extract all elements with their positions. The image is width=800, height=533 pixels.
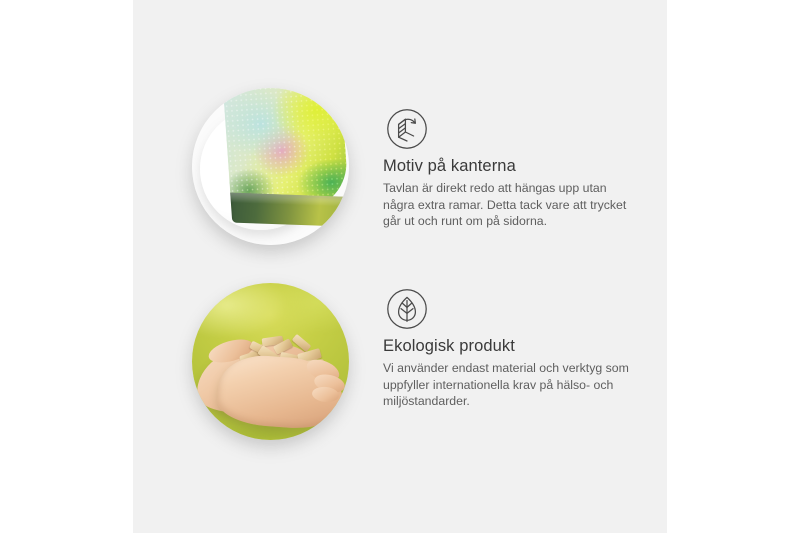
leaf-icon (386, 288, 428, 330)
product-feature-graphic: Motiv på kanterna Tavlan är direkt redo … (0, 0, 800, 533)
feature-title-edges: Motiv på kanterna (383, 156, 516, 176)
canvas-block (223, 88, 349, 239)
content-panel (133, 0, 667, 533)
feature-body-edges: Tavlan är direkt redo att hängas upp uta… (383, 180, 633, 230)
canvas-wrap-edge-icon (386, 108, 428, 150)
canvas-print-edge-photo (192, 88, 349, 245)
feature-title-eco: Ekologisk produkt (383, 336, 515, 356)
hands-wood-chips-photo (192, 283, 349, 440)
feature-body-eco: Vi använder endast material och verktyg … (383, 360, 633, 410)
